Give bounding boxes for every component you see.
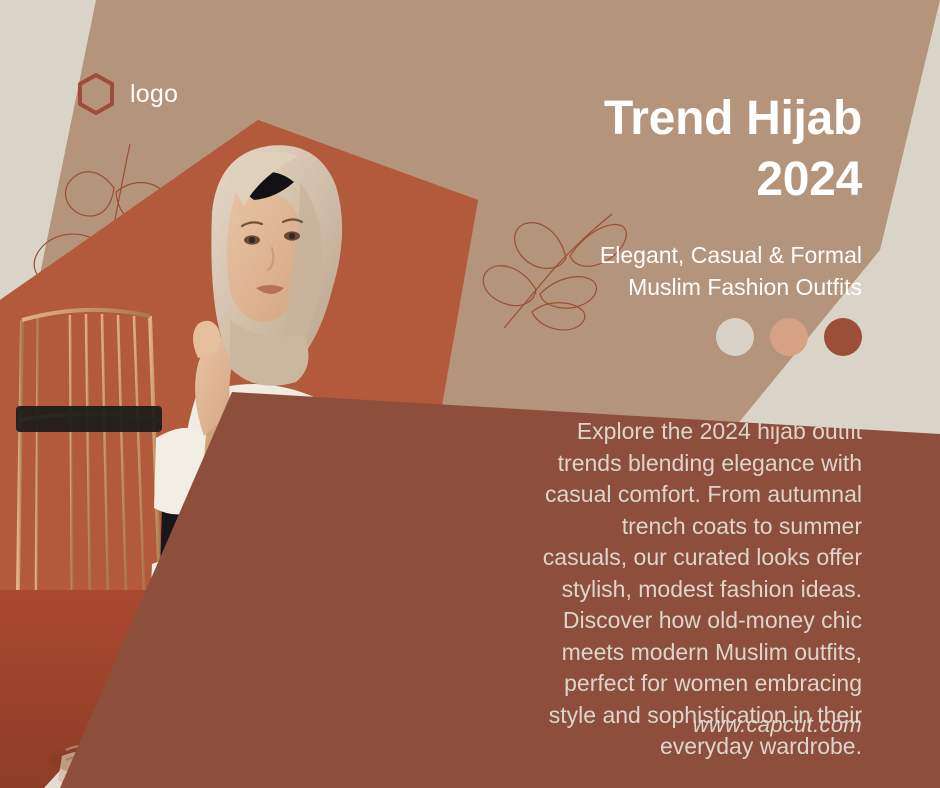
hexagon-icon xyxy=(76,72,116,116)
swatch-tan[interactable] xyxy=(770,318,808,356)
subtitle-line-1: Elegant, Casual & Formal xyxy=(342,240,862,272)
title-line-1: Trend Hijab xyxy=(342,88,862,149)
swatch-terracotta[interactable] xyxy=(824,318,862,356)
subtitle: Elegant, Casual & Formal Muslim Fashion … xyxy=(342,240,862,303)
title-line-2: 2024 xyxy=(342,149,862,210)
page-title: Trend Hijab 2024 xyxy=(342,88,862,211)
color-swatch-group xyxy=(716,318,862,356)
brand-logo[interactable]: logo xyxy=(76,72,178,116)
subtitle-line-2: Muslim Fashion Outfits xyxy=(342,272,862,304)
website-url[interactable]: www.capcut.com xyxy=(532,712,862,738)
poster-canvas: logo Trend Hijab 2024 Elegant, Casual & … xyxy=(0,0,940,788)
body-paragraph: Explore the 2024 hijab outfit trends ble… xyxy=(532,416,862,763)
logo-text: logo xyxy=(130,80,178,109)
swatch-cream[interactable] xyxy=(716,318,754,356)
